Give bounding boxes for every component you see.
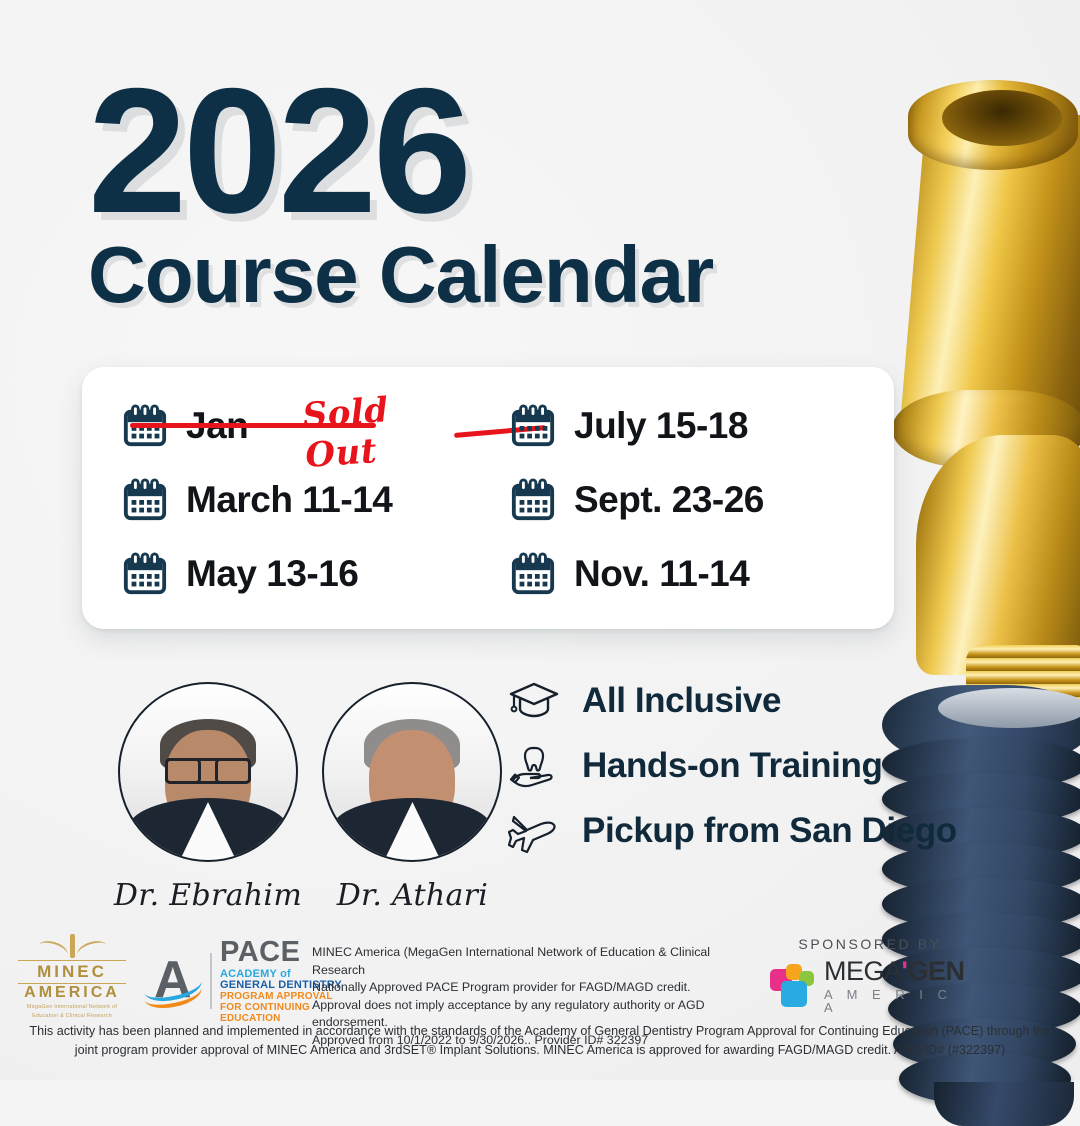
dental-implant-illustration <box>890 60 1080 1020</box>
implant-thread-ring <box>899 1053 1071 1105</box>
pace-a-icon: A <box>146 952 202 1010</box>
minec-logo: MINEC AMERICA MegaGen International Netw… <box>18 932 126 1021</box>
features-list: All Inclusive Hands-on Training Pickup f… <box>508 668 957 863</box>
feature-label: All Inclusive <box>582 681 781 721</box>
megagen-logo: MEGA'GEN A M E R I C A <box>770 958 970 1014</box>
megagen-region: A M E R I C A <box>824 988 970 1014</box>
presenters-block: Dr. Ebrahim Dr. Athari <box>108 682 512 913</box>
implant-apex <box>934 1082 1074 1126</box>
disclaimer-line2: joint program provider approval of MINEC… <box>0 1041 1080 1060</box>
minec-emblem-icon <box>18 932 126 958</box>
presenter-name: Dr. Ebrahim <box>108 878 308 913</box>
feature-hands-on: Hands-on Training <box>508 733 957 798</box>
calendar-icon <box>122 477 168 523</box>
abutment-bore <box>942 90 1062 146</box>
implant-thread-ring <box>882 878 1080 930</box>
date-row-sept[interactable]: Sept. 23-26 <box>510 463 764 537</box>
megagen-squares-icon <box>770 964 818 1008</box>
megagen-wordmark: MEGA'GEN A M E R I C A <box>824 958 970 1014</box>
disclaimer-line1: This activity has been planned and imple… <box>0 1022 1080 1041</box>
feature-pickup: Pickup from San Diego <box>508 798 957 863</box>
hand-holding-tooth-icon <box>508 743 560 789</box>
minec-region: AMERICA <box>18 984 126 1002</box>
date-label: July 15-18 <box>574 405 748 447</box>
date-row-nov[interactable]: Nov. 11-14 <box>510 537 764 611</box>
date-label: Sept. 23-26 <box>574 479 764 521</box>
implant-platform <box>938 688 1080 728</box>
poster-canvas: 2026 Course Calendar <box>0 0 1080 1080</box>
avatar <box>118 682 298 862</box>
headline-block: 2026 Course Calendar <box>88 74 848 315</box>
footer: MINEC AMERICA MegaGen International Netw… <box>0 928 1080 1024</box>
date-row-jan[interactable]: Jan Sold Out <box>122 389 392 463</box>
megagen-mega: MEGA <box>824 956 902 986</box>
sponsor-block: SPONSORED BY MEGA'GEN A M E R I C A <box>770 936 970 1014</box>
date-label: Nov. 11-14 <box>574 553 749 595</box>
calendar-icon <box>510 403 556 449</box>
page-title-year: 2026 <box>88 74 848 227</box>
accreditation-line2: Nationally Approved PACE Program provide… <box>312 979 762 997</box>
minec-tagline-line1: MegaGen International Network of <box>18 1004 126 1011</box>
date-row-march[interactable]: March 11-14 <box>122 463 392 537</box>
pace-divider <box>210 953 212 1009</box>
graduation-cap-icon <box>508 678 560 724</box>
abutment-waist <box>916 435 1080 675</box>
sponsored-by-label: SPONSORED BY <box>770 936 970 952</box>
course-dates-card: Jan Sold Out <box>82 367 894 629</box>
minec-tagline-line2: Education & Clinical Research <box>18 1013 126 1020</box>
minec-name: MINEC <box>18 960 126 984</box>
disclaimer-text: This activity has been planned and imple… <box>0 1022 1080 1060</box>
date-row-july[interactable]: July 15-18 <box>510 389 764 463</box>
avatar <box>322 682 502 862</box>
abutment-collar <box>900 115 1080 425</box>
feature-all-inclusive: All Inclusive <box>508 668 957 733</box>
abutment-flange <box>892 390 1080 468</box>
page-title-subtitle: Course Calendar <box>88 235 848 315</box>
abutment-screw-threads <box>966 645 1080 715</box>
presenter-athari: Dr. Athari <box>312 682 512 913</box>
feature-label: Hands-on Training <box>582 746 882 786</box>
megagen-gen: GEN <box>907 956 964 986</box>
dates-column-right: July 15-18 <box>510 389 764 611</box>
presenter-ebrahim: Dr. Ebrahim <box>108 682 308 913</box>
calendar-icon <box>510 551 556 597</box>
avatar-glasses <box>165 758 251 784</box>
dates-column-left: Jan Sold Out <box>122 389 392 611</box>
presenter-name: Dr. Athari <box>312 878 512 913</box>
date-row-may[interactable]: May 13-16 <box>122 537 392 611</box>
calendar-icon <box>122 551 168 597</box>
feature-label: Pickup from San Diego <box>582 811 957 851</box>
accreditation-line1: MINEC America (MegaGen International Net… <box>312 944 762 979</box>
airplane-icon <box>508 808 560 854</box>
calendar-icon <box>510 477 556 523</box>
date-label: May 13-16 <box>186 553 358 595</box>
abutment-top <box>908 80 1078 170</box>
date-label: March 11-14 <box>186 479 392 521</box>
